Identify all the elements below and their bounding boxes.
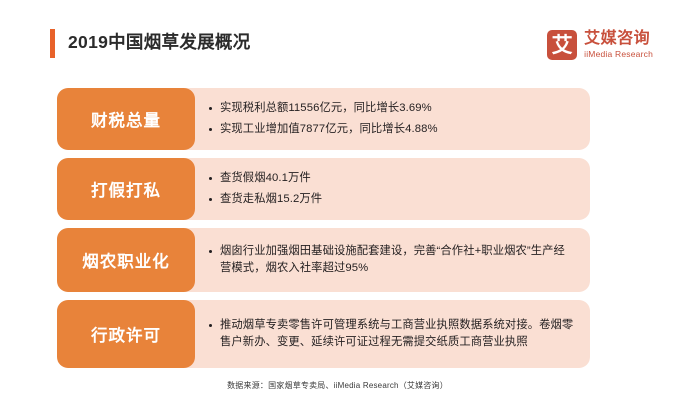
- row-content-dajia: 查货假烟40.1万件 查货走私烟15.2万件: [185, 158, 590, 220]
- content-rows: 财税总量 实现税利总额11556亿元，同比增长3.69% 实现工业增加值7877…: [0, 88, 675, 376]
- bullet-item: 查货走私烟15.2万件: [209, 191, 576, 209]
- logo-mark-icon: 艾: [547, 30, 577, 60]
- content-row: 财税总量 实现税利总额11556亿元，同比增长3.69% 实现工业增加值7877…: [0, 88, 675, 150]
- content-row: 行政许可 推动烟草专卖零售许可管理系统与工商营业执照数据系统对接。卷烟零售户新办…: [0, 300, 675, 368]
- page-title-wrap: 2019中国烟草发展概况: [50, 28, 251, 58]
- logo-name-cn: 艾媒咨询: [584, 31, 653, 48]
- logo-mark-char: 艾: [552, 35, 573, 56]
- page-title: 2019中国烟草发展概况: [68, 34, 251, 52]
- row-label-yannong: 烟农职业化: [57, 228, 195, 292]
- content-row: 烟农职业化 烟囱行业加强烟田基础设施配套建设，完善“合作社+职业烟农”生产经营模…: [0, 228, 675, 292]
- bullet-item: 实现税利总额11556亿元，同比增长3.69%: [209, 100, 576, 118]
- row-content-yannong: 烟囱行业加强烟田基础设施配套建设，完善“合作社+职业烟农”生产经营模式，烟农入社…: [185, 228, 590, 292]
- source-footnote: 数据来源：国家烟草专卖局、iiMedia Research（艾媒咨询）: [0, 380, 675, 391]
- bullet-item: 烟囱行业加强烟田基础设施配套建设，完善“合作社+职业烟农”生产经营模式，烟农入社…: [209, 243, 576, 278]
- logo-text: 艾媒咨询 iiMedia Research: [584, 31, 653, 59]
- row-content-caishui: 实现税利总额11556亿元，同比增长3.69% 实现工业增加值7877亿元，同比…: [185, 88, 590, 150]
- bullet-item: 查货假烟40.1万件: [209, 170, 576, 188]
- bullet-item: 实现工业增加值7877亿元，同比增长4.88%: [209, 121, 576, 139]
- title-accent-bar: [50, 29, 55, 58]
- row-label-dajia: 打假打私: [57, 158, 195, 220]
- logo-name-en: iiMedia Research: [584, 49, 653, 59]
- page-header: 2019中国烟草发展概况 艾 艾媒咨询 iiMedia Research: [0, 0, 675, 78]
- row-label-caishui: 财税总量: [57, 88, 195, 150]
- row-label-xingzheng: 行政许可: [57, 300, 195, 368]
- row-content-xingzheng: 推动烟草专卖零售许可管理系统与工商营业执照数据系统对接。卷烟零售户新办、变更、延…: [185, 300, 590, 368]
- content-row: 打假打私 查货假烟40.1万件 查货走私烟15.2万件: [0, 158, 675, 220]
- bullet-item: 推动烟草专卖零售许可管理系统与工商营业执照数据系统对接。卷烟零售户新办、变更、延…: [209, 317, 576, 352]
- brand-logo: 艾 艾媒咨询 iiMedia Research: [547, 29, 653, 61]
